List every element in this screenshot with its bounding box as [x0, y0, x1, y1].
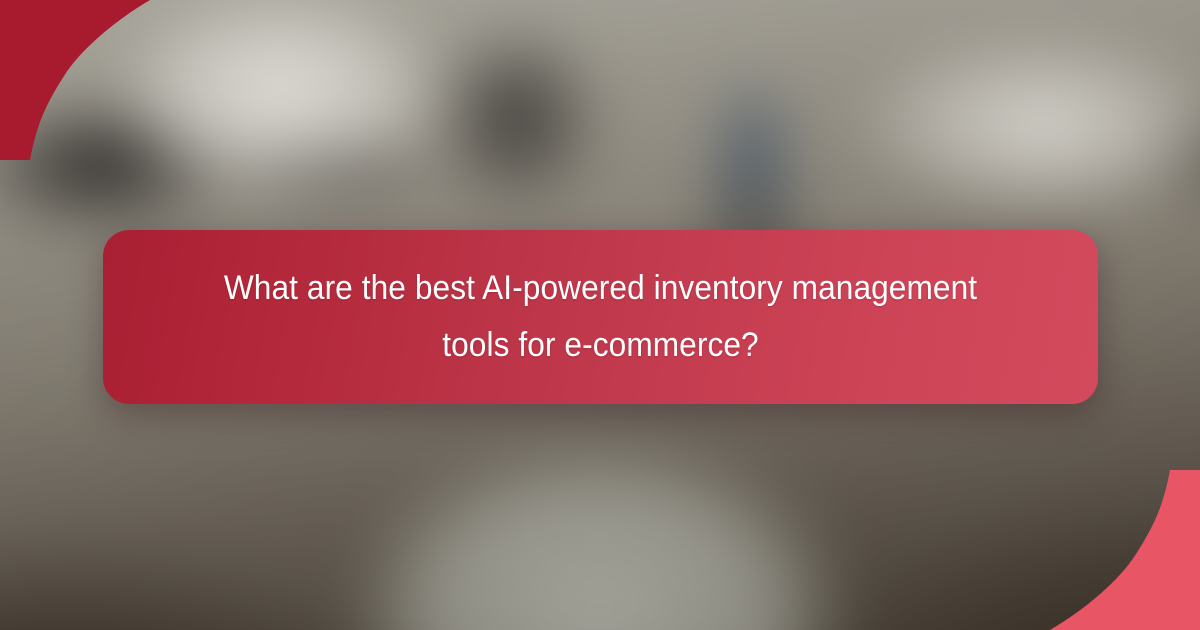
corner-swoosh-bottom-right-icon [950, 470, 1200, 630]
question-card: What are the best AI-powered inventory m… [103, 230, 1098, 404]
share-card-canvas: What are the best AI-powered inventory m… [0, 0, 1200, 630]
question-text: What are the best AI-powered inventory m… [192, 260, 1009, 374]
corner-swoosh-top-left-icon [0, 0, 250, 160]
